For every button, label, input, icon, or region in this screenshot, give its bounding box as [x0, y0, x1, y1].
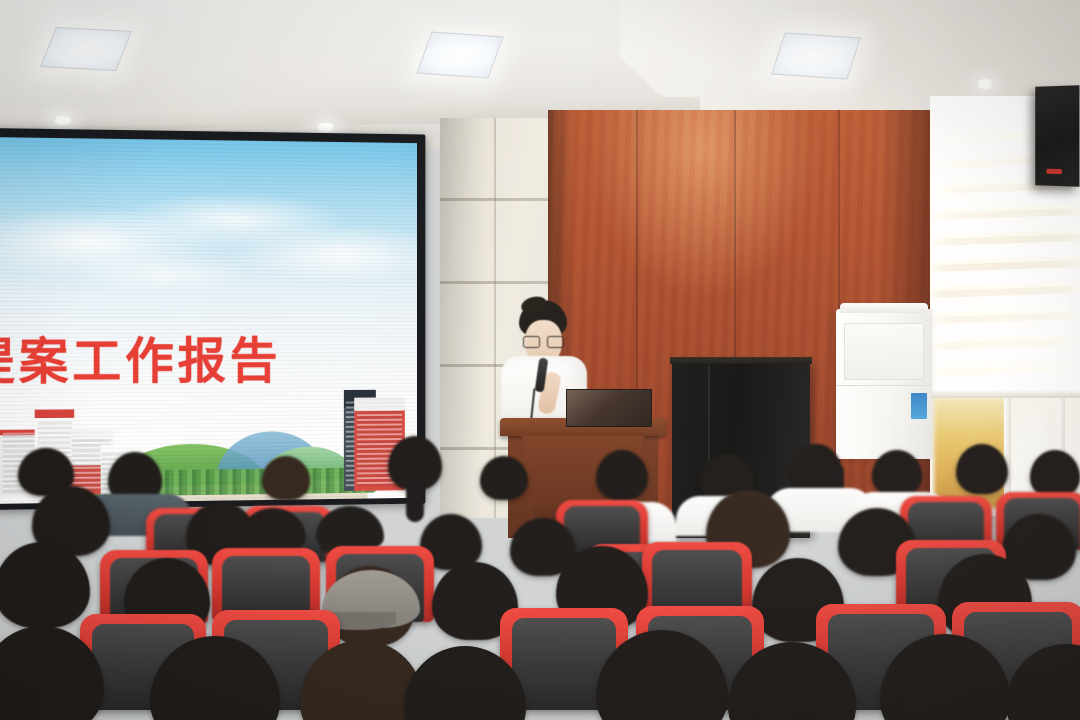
- energy-rating-label: [911, 393, 927, 419]
- ceiling-downlight: [975, 79, 995, 89]
- ceiling-downlight: [52, 116, 74, 125]
- air-conditioner-top: [840, 303, 928, 313]
- air-conditioner-vent: [844, 323, 924, 380]
- ceiling-panel-light: [771, 32, 861, 79]
- audience-head: [480, 456, 528, 500]
- audience-head: [262, 456, 310, 500]
- ponytail: [406, 476, 424, 522]
- slide-clouds: [0, 159, 417, 306]
- speaker-logo: [1047, 169, 1062, 174]
- audience-head: [872, 450, 922, 496]
- ceiling-downlight: [315, 123, 336, 132]
- wall-speaker: [1035, 85, 1079, 187]
- audience-head: [956, 444, 1008, 494]
- auditorium-photo: 提案工作报告: [0, 0, 1080, 720]
- slide-title-text: 提案工作报告: [0, 322, 281, 394]
- eyeglasses: [523, 336, 564, 346]
- air-conditioner-seam: [836, 385, 932, 386]
- audience-area: [0, 430, 1080, 720]
- cabinet-top: [670, 357, 812, 364]
- audience-head: [1030, 450, 1080, 498]
- ceiling-panel-light: [40, 27, 132, 71]
- ceiling-panel-light: [416, 31, 503, 78]
- podium-monitor: [566, 389, 652, 427]
- blinds-bottom-rail: [930, 390, 1080, 398]
